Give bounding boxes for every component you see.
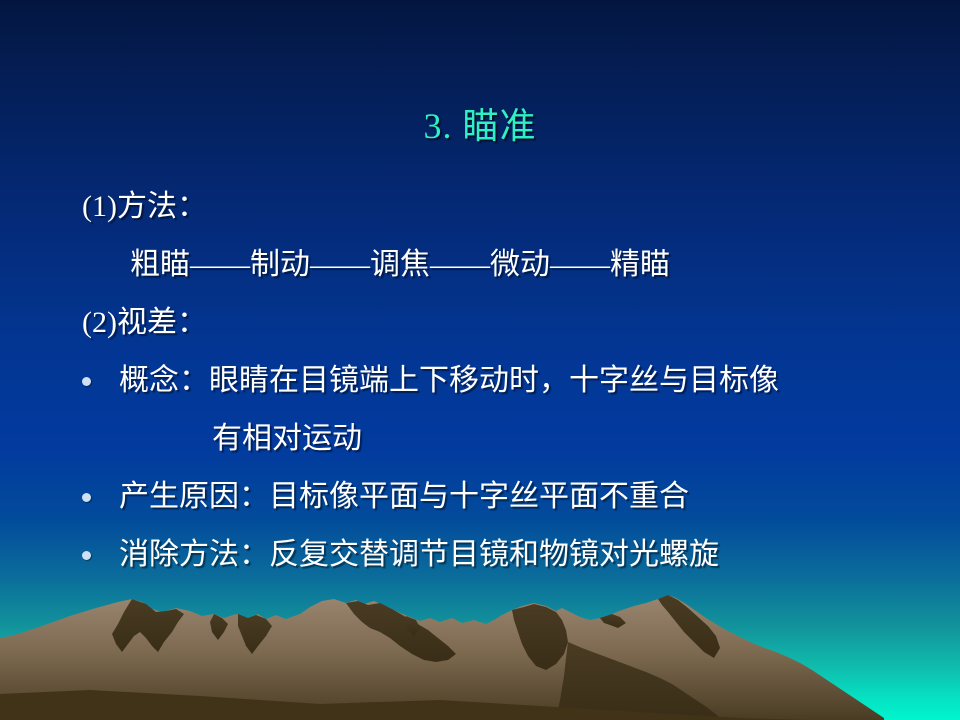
mountain-shadow-center2 <box>404 616 420 636</box>
bullet-dot-icon <box>82 377 91 386</box>
mountain-foreground-band <box>0 690 810 720</box>
mountain-range-graphic <box>0 590 960 720</box>
mountain-shadow-right-spur <box>556 642 718 720</box>
slide-title: 3. 瞄准 <box>0 106 960 147</box>
mountain-ridge-main <box>0 595 884 720</box>
mountain-shadow-farright <box>658 595 720 658</box>
slide: 3. 瞄准 (1)方法： 粗瞄——制动——调焦——微动——精瞄 (2)视差： 概… <box>0 0 960 720</box>
body-line-6-text: 产生原因：目标像平面与十字丝平面不重合 <box>119 468 689 526</box>
body-line-4-text: 概念：眼睛在目镜端上下移动时，十字丝与目标像 <box>119 352 779 410</box>
body-line-5: 有相对运动 <box>0 410 960 468</box>
body-line-1: (1)方法： <box>0 178 960 236</box>
body-line-5-text: 有相对运动 <box>212 422 362 455</box>
mountain-shadow-center <box>346 601 456 662</box>
body-line-7-text: 消除方法：反复交替调节目镜和物镜对光螺旋 <box>119 526 719 584</box>
body-line-7: 消除方法：反复交替调节目镜和物镜对光螺旋 <box>0 526 960 584</box>
bullet-dot-icon <box>82 493 91 502</box>
body-line-2: 粗瞄——制动——调焦——微动——精瞄 <box>0 236 960 294</box>
body-line-2-text: 粗瞄——制动——调焦——微动——精瞄 <box>130 248 670 281</box>
body-line-1-text: (1)方法： <box>82 190 207 223</box>
mountain-shadow-left <box>112 599 184 652</box>
mountain-shadow-left2 <box>238 614 272 654</box>
slide-body: (1)方法： 粗瞄——制动——调焦——微动——精瞄 (2)视差： 概念：眼睛在目… <box>0 178 960 584</box>
mountain-shadow-right <box>512 604 568 670</box>
body-line-6: 产生原因：目标像平面与十字丝平面不重合 <box>0 468 960 526</box>
body-line-3: (2)视差： <box>0 294 960 352</box>
body-line-3-text: (2)视差： <box>82 306 207 339</box>
mountain-shadow-left3 <box>210 614 228 640</box>
body-line-4: 概念：眼睛在目镜端上下移动时，十字丝与目标像 <box>0 352 960 410</box>
mountain-shadow-notch <box>600 614 626 628</box>
bullet-dot-icon <box>82 551 91 560</box>
